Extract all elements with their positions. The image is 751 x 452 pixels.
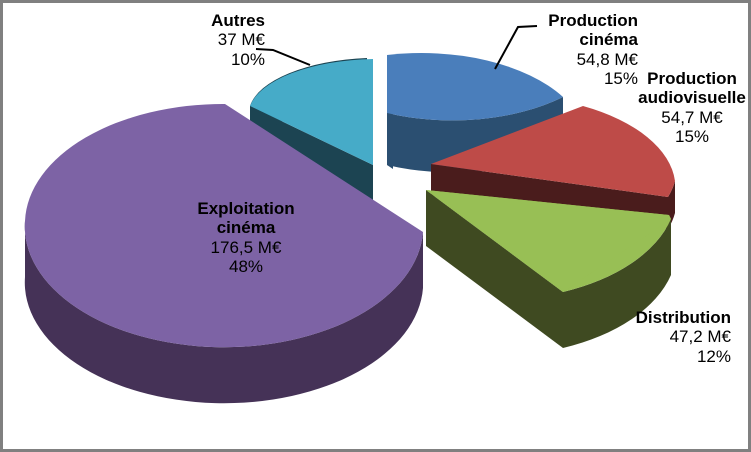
data-label-production-cinema-percent: 15% bbox=[528, 69, 638, 88]
data-label-production-cinema-category-line2: cinéma bbox=[528, 30, 638, 49]
data-label-exploitation-cinema-value: 176,5 M€ bbox=[173, 238, 319, 257]
data-label-production-audiovisuelle: Production audiovisuelle 54,7 M€ 15% bbox=[633, 69, 751, 147]
data-label-exploitation-cinema: Exploitation cinéma 176,5 M€ 48% bbox=[173, 199, 319, 277]
data-label-production-cinema-category-line1: Production bbox=[528, 11, 638, 30]
data-label-autres-percent: 10% bbox=[155, 50, 265, 69]
data-label-production-cinema: Production cinéma 54,8 M€ 15% bbox=[528, 11, 638, 89]
data-label-distribution-percent: 12% bbox=[613, 347, 731, 366]
data-label-distribution-value: 47,2 M€ bbox=[613, 327, 731, 346]
data-label-distribution-category: Distribution bbox=[613, 308, 731, 327]
data-label-production-audiovisuelle-percent: 15% bbox=[633, 127, 751, 146]
data-label-production-audiovisuelle-value: 54,7 M€ bbox=[633, 108, 751, 127]
data-label-autres: Autres 37 M€ 10% bbox=[155, 11, 265, 69]
data-label-exploitation-cinema-category-line2: cinéma bbox=[173, 218, 319, 237]
data-label-exploitation-cinema-category-line1: Exploitation bbox=[173, 199, 319, 218]
data-label-production-audiovisuelle-category-line2: audiovisuelle bbox=[633, 88, 751, 107]
data-label-autres-category: Autres bbox=[155, 11, 265, 30]
data-label-production-cinema-value: 54,8 M€ bbox=[528, 50, 638, 69]
data-label-distribution: Distribution 47,2 M€ 12% bbox=[613, 308, 731, 366]
data-label-autres-value: 37 M€ bbox=[155, 30, 265, 49]
data-label-production-audiovisuelle-category-line1: Production bbox=[633, 69, 751, 88]
chart-screenshot: Autres 37 M€ 10% Production cinéma 54,8 … bbox=[0, 0, 751, 452]
data-label-exploitation-cinema-percent: 48% bbox=[173, 257, 319, 276]
